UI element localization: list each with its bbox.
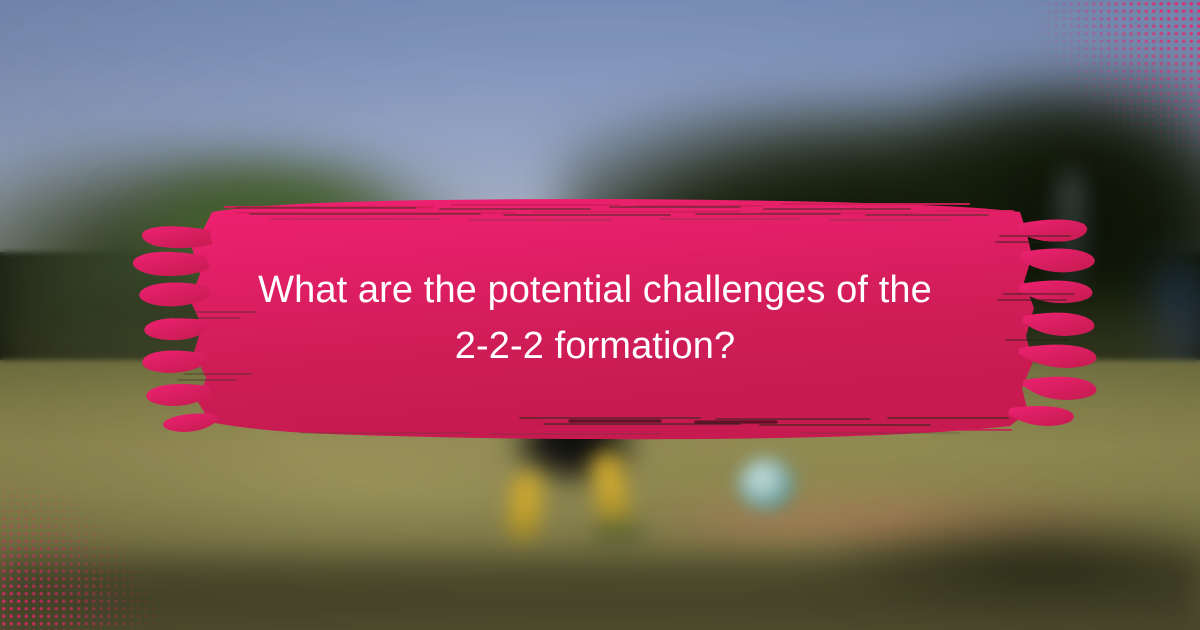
quote-card: What are the potential challenges of the… (0, 0, 1200, 630)
headline-text: What are the potential challenges of the… (200, 262, 990, 374)
